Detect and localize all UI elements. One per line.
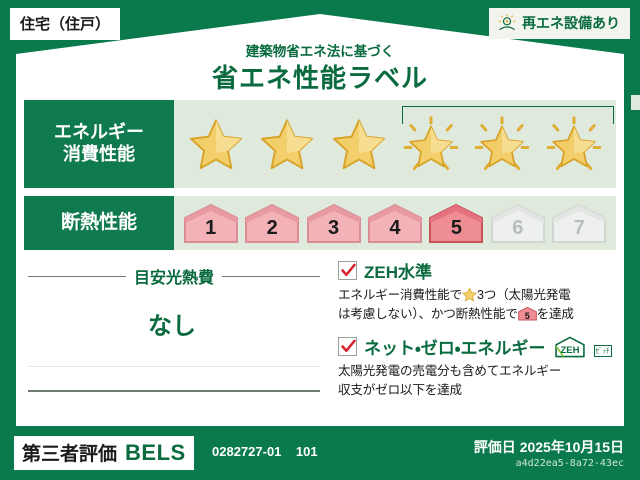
- third-party-label: 第三者評価: [22, 439, 117, 466]
- insulation-level-label: 3: [328, 218, 339, 244]
- utility-cost-thin-rule: [28, 366, 320, 367]
- insulation-levels-area: 1 2 3 4 5: [174, 196, 616, 250]
- insulation-level-1: 1: [183, 202, 239, 244]
- zeh-desc-part4: を達成: [537, 307, 574, 321]
- sparkle-star-icon: [474, 116, 530, 172]
- star-icon: [188, 116, 244, 172]
- lower-section: 目安光熱費 なし ZEH水準: [24, 258, 616, 418]
- utility-cost-heading: 目安光熱費: [28, 264, 320, 288]
- solar-bracket-label: 太陽光発電(自家消費)分: [631, 95, 640, 110]
- insulation-level-2: 2: [244, 202, 300, 244]
- star-icon: [331, 116, 387, 172]
- document-type-chip: 住宅（住戸）: [10, 8, 120, 40]
- bels-registration: 0282727-01 101: [212, 444, 318, 459]
- svg-text:ZEH: ZEH: [560, 345, 579, 356]
- bels-registration-suffix: 101: [296, 444, 318, 459]
- net-zero-desc-line2: 収支がゼロ以下を達成: [338, 383, 462, 397]
- evaluation-date-value: 2025年10月15日: [520, 439, 624, 455]
- divider-right: [222, 276, 320, 277]
- check-icon: [340, 262, 357, 279]
- star-icon: [259, 116, 315, 172]
- insulation-level-scale: 1 2 3 4 5: [174, 196, 616, 250]
- renewable-badge-label: 再エネ設備あり: [522, 13, 620, 33]
- zeh-standard-checkbox[interactable]: [338, 261, 357, 280]
- insulation-level-label: 5: [451, 218, 462, 244]
- renewable-energy-badge: 再エネ設備あり: [489, 8, 630, 39]
- evaluation-date-label: 評価日: [474, 439, 516, 455]
- evaluation-id: a4d22ea5-8a72-43ec: [516, 458, 624, 469]
- criterion-net-zero-energy: ネット・ゼロ・エネルギー ZEH ｾﾞｯﾁ 太陽光発電の売電分も含めてエネルギー: [338, 334, 616, 400]
- zeh-desc-part3: は考慮しない）、かつ断熱性能で: [338, 307, 518, 321]
- insulation-level-label: 1: [205, 218, 216, 244]
- insulation-level-5-current: 5: [428, 202, 484, 244]
- sparkle-star-icon: [403, 116, 459, 172]
- bels-label: BELS: [125, 440, 186, 466]
- zeh-logo-icon: ZEH: [553, 336, 587, 358]
- bels-chip: 第三者評価 BELS: [14, 436, 194, 470]
- net-zero-description: 太陽光発電の売電分も含めてエネルギー 収支がゼロ以下を達成: [338, 362, 616, 400]
- utility-cost-title: 目安光熱費: [134, 264, 214, 288]
- energy-performance-row: エネルギー 消費性能 太陽光発電(自家消費)分: [24, 100, 616, 188]
- check-icon: [340, 338, 357, 355]
- utility-cost-bold-rule: [28, 390, 320, 392]
- zeh-standard-title: ZEH水準: [364, 258, 432, 283]
- criterion-net-zero-header: ネット・ゼロ・エネルギー ZEH ｾﾞｯﾁ: [338, 334, 616, 359]
- energy-category-box: エネルギー 消費性能: [24, 100, 174, 188]
- sparkle-star-icon: [546, 116, 602, 172]
- bels-registration-number: 0282727-01: [212, 444, 281, 459]
- insulation-level-label: 2: [267, 218, 278, 244]
- insulation-category-label: 断熱性能: [61, 211, 137, 234]
- inline-house-label: 5: [518, 312, 537, 321]
- criteria-block: ZEH水準 エネルギー消費性能で3つ（太陽光発電 は考慮しない）、かつ断熱性能で…: [324, 258, 616, 418]
- net-zero-checkbox[interactable]: [338, 337, 357, 356]
- zeh-standard-description: エネルギー消費性能で3つ（太陽光発電 は考慮しない）、かつ断熱性能で5を達成: [338, 286, 616, 324]
- energy-category-line2: 消費性能: [63, 144, 135, 166]
- divider-left: [28, 276, 126, 277]
- utility-cost-value: なし: [24, 306, 320, 341]
- sun-icon: [497, 13, 517, 33]
- net-zero-title: ネット・ゼロ・エネルギー: [364, 334, 546, 359]
- evaluation-date: 評価日 2025年10月15日: [474, 437, 624, 457]
- zeh-desc-part2: 3つ（太陽光発電: [477, 288, 571, 302]
- insulation-level-6: 6: [490, 202, 546, 244]
- label-title: 省エネ性能ラベル: [0, 58, 640, 95]
- label-footer: 第三者評価 BELS 0282727-01 101 評価日 2025年10月15…: [0, 428, 640, 480]
- energy-performance-label: 住宅（住戸） 再エネ設備あり 建築物省エネ法に基づく 省エネ性能ラベル: [0, 0, 640, 480]
- insulation-category-box: 断熱性能: [24, 196, 174, 250]
- insulation-level-3: 3: [306, 202, 362, 244]
- insulation-level-label: 4: [389, 218, 400, 244]
- label-subtitle: 建築物省エネ法に基づく: [0, 40, 640, 60]
- criterion-zeh-standard: ZEH水準 エネルギー消費性能で3つ（太陽光発電 は考慮しない）、かつ断熱性能で…: [338, 258, 616, 324]
- insulation-performance-row: 断熱性能 1 2 3: [24, 196, 616, 250]
- zeh-logo-subtext: ｾﾞｯﾁ: [594, 345, 612, 357]
- insulation-level-label: 7: [574, 218, 585, 244]
- criterion-zeh-header: ZEH水準: [338, 258, 616, 283]
- utility-cost-block: 目安光熱費 なし: [24, 258, 324, 418]
- insulation-level-label: 6: [512, 218, 523, 244]
- insulation-level-4: 4: [367, 202, 423, 244]
- insulation-level-inline-badge: 5: [518, 306, 537, 321]
- net-zero-desc-line1: 太陽光発電の売電分も含めてエネルギー: [338, 364, 561, 378]
- energy-stars-area: 太陽光発電(自家消費)分: [174, 100, 616, 188]
- star-icon: [462, 288, 477, 302]
- zeh-desc-part1: エネルギー消費性能で: [338, 288, 462, 302]
- label-panel: エネルギー 消費性能 太陽光発電(自家消費)分: [16, 92, 624, 426]
- insulation-level-7: 7: [551, 202, 607, 244]
- star-rating: [174, 100, 616, 188]
- energy-category-line1: エネルギー: [54, 122, 144, 144]
